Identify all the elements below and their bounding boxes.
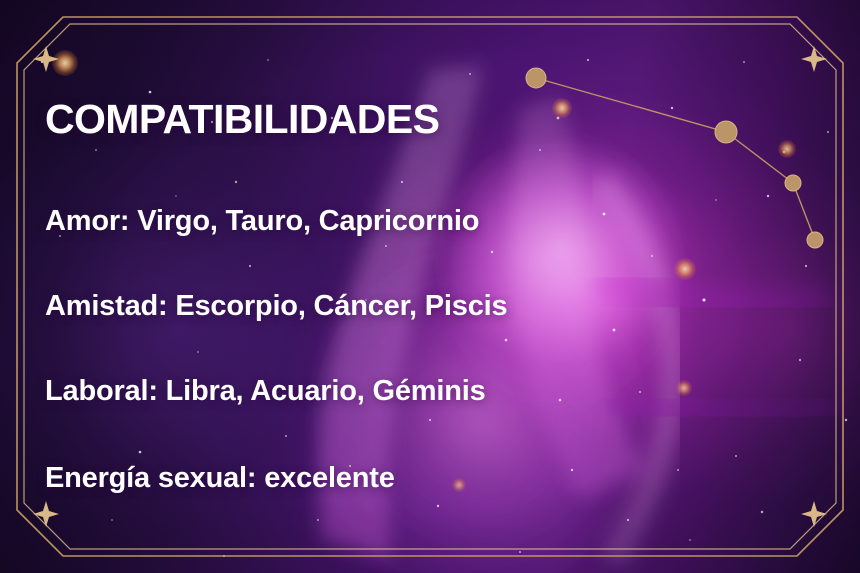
compatibility-line-energia-sexual: Energía sexual: excelente bbox=[45, 462, 395, 495]
page-title: COMPATIBILIDADES bbox=[45, 96, 439, 143]
compatibility-line-amistad: Amistad: Escorpio, Cáncer, Piscis bbox=[45, 290, 507, 323]
compatibility-line-amor: Amor: Virgo, Tauro, Capricornio bbox=[45, 205, 479, 238]
compatibility-line-laboral: Laboral: Libra, Acuario, Géminis bbox=[45, 375, 486, 408]
glow-star-right-upper bbox=[778, 140, 796, 158]
horoscope-compatibility-poster: COMPATIBILIDADES Amor: Virgo, Tauro, Cap… bbox=[0, 0, 860, 573]
glow-star-lower-right bbox=[676, 380, 692, 396]
text-content: COMPATIBILIDADES Amor: Virgo, Tauro, Cap… bbox=[45, 0, 645, 573]
glow-star-center bbox=[674, 258, 696, 280]
